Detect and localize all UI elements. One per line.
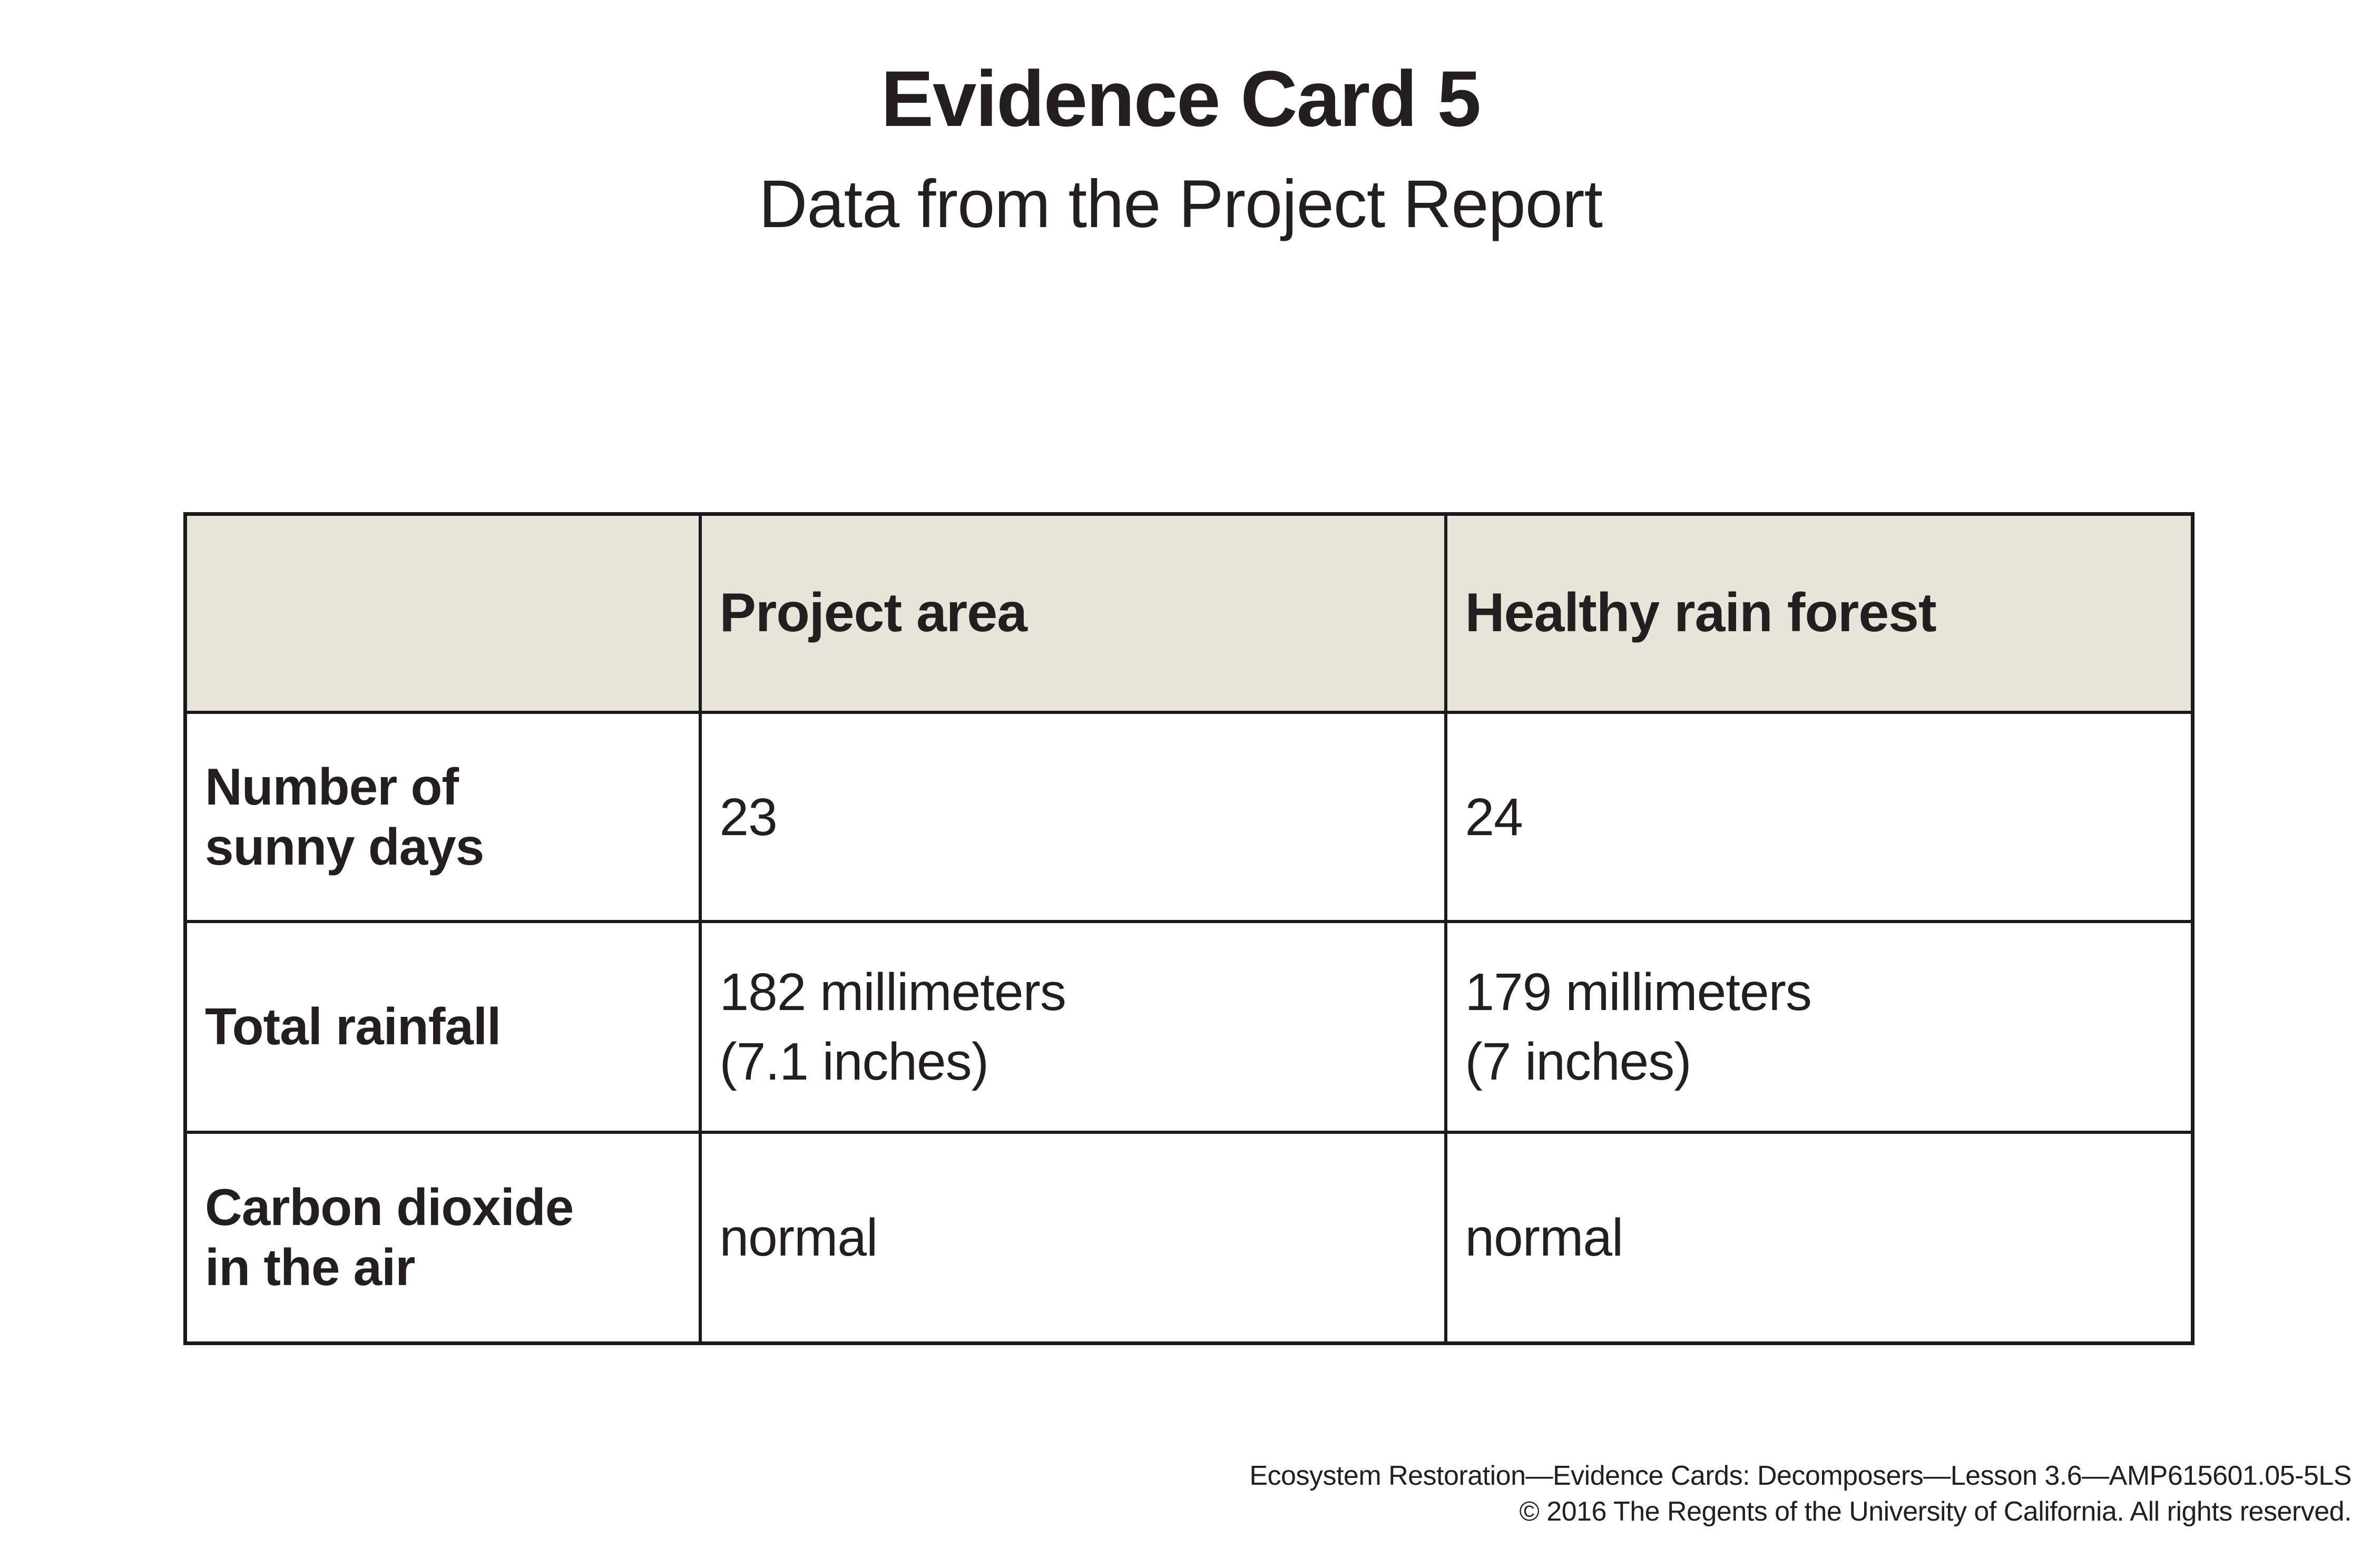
cell-carbon-dioxide-healthy-rain-forest: normal — [1446, 1132, 2193, 1344]
cell-value-line-2: (7.1 inches) — [720, 1028, 1426, 1095]
row-label-line-2: in the air — [205, 1238, 681, 1298]
column-header-measure — [185, 514, 700, 713]
footer-line-source: Ecosystem Restoration—Evidence Cards: De… — [0, 1458, 2352, 1494]
footer-credits: Ecosystem Restoration—Evidence Cards: De… — [0, 1458, 2361, 1530]
cell-value-line-1: normal — [720, 1204, 1426, 1271]
cell-sunny-days-project-area: 23 — [700, 712, 1446, 922]
table-body: Number of sunny days 23 24 Total rainfal… — [185, 712, 2193, 1344]
cell-value-line-1: 24 — [1465, 784, 2173, 850]
page-title: Evidence Card 5 — [0, 0, 2361, 138]
project-report-data-table: Project area Healthy rain forest Number … — [183, 512, 2195, 1345]
cell-total-rainfall-healthy-rain-forest: 179 millimeters (7 inches) — [1446, 922, 2193, 1132]
table-header-row: Project area Healthy rain forest — [185, 514, 2193, 713]
row-label-total-rainfall: Total rainfall — [185, 922, 700, 1132]
table-row: Carbon dioxide in the air normal normal — [185, 1132, 2193, 1344]
row-label-carbon-dioxide: Carbon dioxide in the air — [185, 1132, 700, 1344]
cell-value-line-1: 179 millimeters — [1465, 959, 2173, 1025]
cell-value-line-1: 182 millimeters — [720, 959, 1426, 1025]
footer-line-copyright: © 2016 The Regents of the University of … — [0, 1494, 2352, 1530]
card-header: Evidence Card 5 Data from the Project Re… — [0, 0, 2361, 238]
cell-sunny-days-healthy-rain-forest: 24 — [1446, 712, 2193, 922]
cell-value-line-1: 23 — [720, 784, 1426, 850]
column-header-project-area: Project area — [700, 514, 1446, 713]
column-header-healthy-rain-forest: Healthy rain forest — [1446, 514, 2193, 713]
cell-value-line-1: normal — [1465, 1204, 2173, 1271]
row-label-line-1: Carbon dioxide — [205, 1178, 681, 1238]
cell-total-rainfall-project-area: 182 millimeters (7.1 inches) — [700, 922, 1446, 1132]
data-table-container: Project area Healthy rain forest Number … — [183, 512, 2191, 1345]
cell-value-line-2: (7 inches) — [1465, 1028, 2173, 1095]
row-label-line-1: Number of — [205, 757, 681, 817]
cell-carbon-dioxide-project-area: normal — [700, 1132, 1446, 1344]
row-label-line-1: Total rainfall — [205, 997, 681, 1057]
table-header: Project area Healthy rain forest — [185, 514, 2193, 713]
row-label-sunny-days: Number of sunny days — [185, 712, 700, 922]
row-label-line-2: sunny days — [205, 817, 681, 877]
page-subtitle: Data from the Project Report — [0, 138, 2361, 238]
table-row: Total rainfall 182 millimeters (7.1 inch… — [185, 922, 2193, 1132]
table-row: Number of sunny days 23 24 — [185, 712, 2193, 922]
